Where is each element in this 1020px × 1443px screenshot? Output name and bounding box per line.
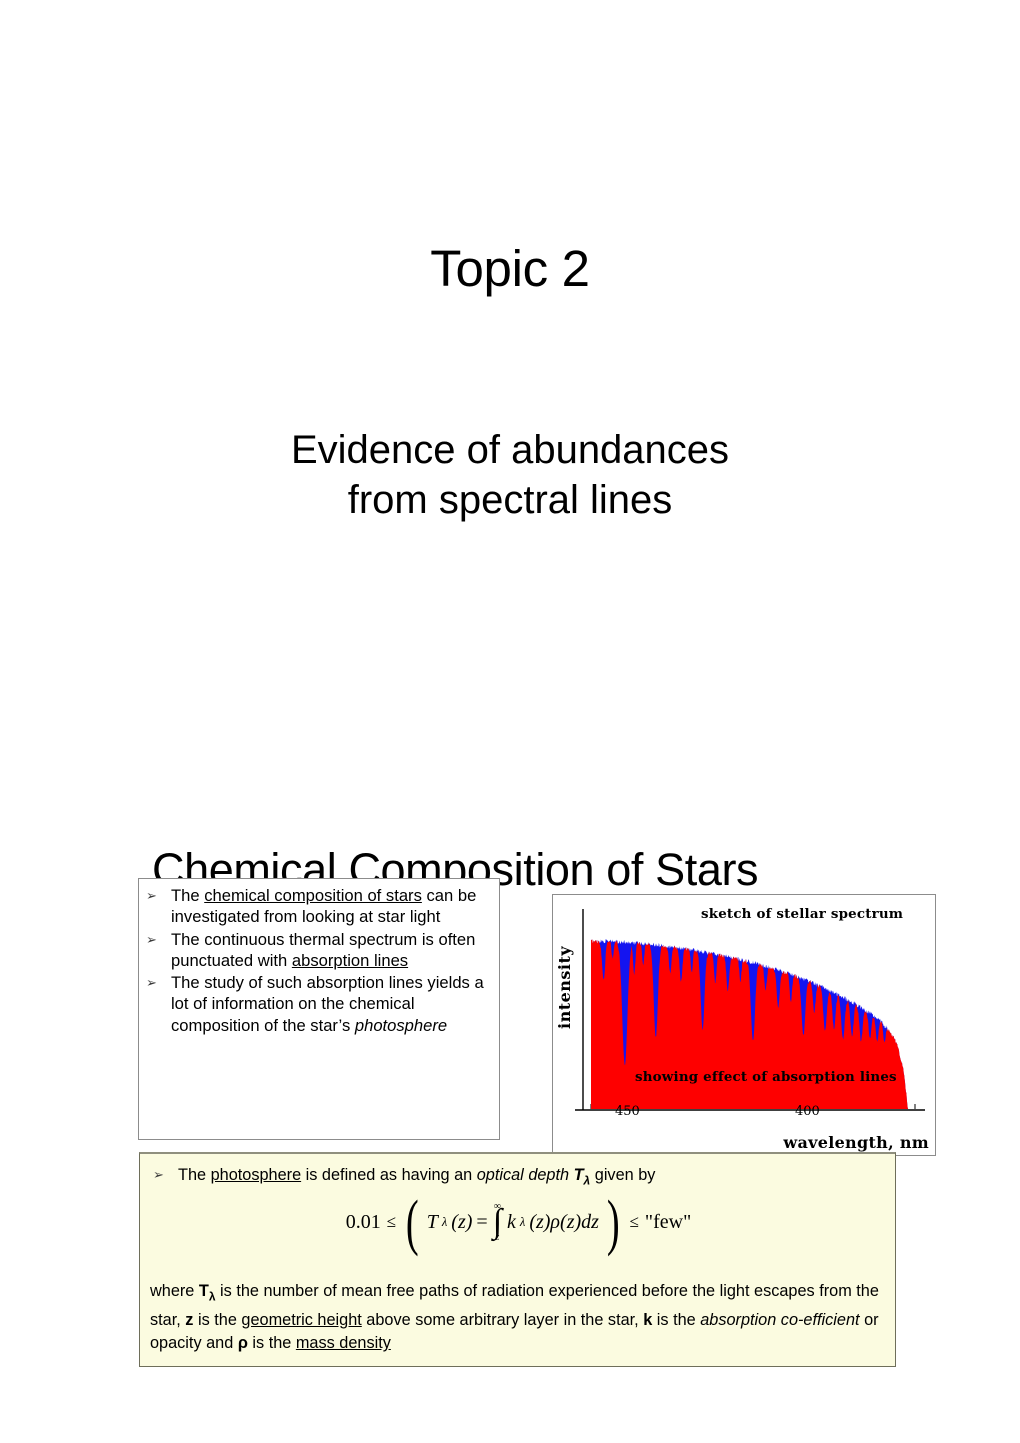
optical-depth-equation: 0.01 ≤ ( Tλ(z) = ∞ ∫ z kλ(z)ρ(z)dz ) ≤ "… <box>140 1202 897 1242</box>
bullet-arrow-icon: ➢ <box>146 886 157 907</box>
integral-lower-limit: z <box>495 1233 499 1242</box>
photosphere-definition-panel: ➢ The photosphere is defined as having a… <box>139 1152 896 1367</box>
title-slide: Topic 2 Evidence of abundances from spec… <box>0 0 1020 790</box>
photosphere-intro-bullet: ➢ The photosphere is defined as having a… <box>150 1164 885 1191</box>
equation-row: 0.01 ≤ ( Tλ(z) = ∞ ∫ z kλ(z)ρ(z)dz ) ≤ "… <box>346 1202 691 1242</box>
equation-integrand-rest: (z)ρ(z)dz <box>529 1211 599 1234</box>
y-axis-label: intensity <box>555 917 577 1057</box>
equation-rel-left: ≤ <box>385 1212 398 1232</box>
bullet-text-box: ➢The chemical composition of stars can b… <box>138 878 500 1140</box>
equation-lhs-argument: (z) <box>451 1211 472 1234</box>
figure-caption-top: sketch of stellar spectrum <box>701 906 903 922</box>
photosphere-intro-text: The photosphere is defined as having an … <box>178 1166 655 1184</box>
equation-upper-bound: "few" <box>645 1211 691 1234</box>
equation-lhs-subscript: λ <box>442 1215 447 1230</box>
list-item: ➢The continuous thermal spectrum is ofte… <box>143 929 493 972</box>
x-tick-label-450: 450 <box>615 1104 640 1119</box>
list-item: ➢The study of such absorption lines yiel… <box>143 972 493 1036</box>
equation-variable-definitions: where Tλ is the number of mean free path… <box>150 1280 892 1356</box>
equation-integrand-symbol: k <box>507 1211 516 1234</box>
list-item-label: The study of such absorption lines yield… <box>171 973 484 1035</box>
list-item-label: The chemical composition of stars can be… <box>171 886 476 926</box>
equation-lhs-symbol: T <box>427 1211 438 1234</box>
spectrum-plot-area: intensity sketch of stellar spectrum sho… <box>553 895 935 1155</box>
equation-right-paren: ) <box>607 1204 620 1242</box>
equation-lower-bound: 0.01 <box>346 1211 381 1234</box>
bullet-arrow-icon: ➢ <box>146 930 157 951</box>
bullet-list: ➢The chemical composition of stars can b… <box>143 885 493 1036</box>
stellar-spectrum-figure: intensity sketch of stellar spectrum sho… <box>552 894 936 1156</box>
bullet-arrow-icon: ➢ <box>146 973 157 994</box>
equation-left-paren: ( <box>406 1204 419 1242</box>
x-axis-label: wavelength, nm <box>783 1133 929 1152</box>
integral-sign-icon: ∫ <box>493 1211 502 1233</box>
subtitle-line-1: Evidence of abundances <box>291 428 729 472</box>
slide-subtitle: Evidence of abundances from spectral lin… <box>0 425 1020 525</box>
list-item-label: The continuous thermal spectrum is often… <box>171 930 475 970</box>
x-tick-label-400: 400 <box>795 1104 820 1119</box>
subtitle-line-2: from spectral lines <box>0 475 1020 525</box>
equation-equals: = <box>476 1211 487 1234</box>
content-slide: Chemical Composition of Stars ➢The chemi… <box>0 790 1020 1443</box>
spectrum-chart-svg <box>553 895 935 1155</box>
list-item: ➢The chemical composition of stars can b… <box>143 885 493 928</box>
integral-operator: ∞ ∫ z <box>493 1202 502 1242</box>
bullet-arrow-icon: ➢ <box>153 1165 164 1186</box>
page-title: Topic 2 <box>0 239 1020 299</box>
figure-caption-bottom: showing effect of absorption lines <box>635 1069 897 1085</box>
equation-integrand-subscript: λ <box>520 1215 525 1230</box>
equation-rel-right: ≤ <box>628 1212 641 1232</box>
